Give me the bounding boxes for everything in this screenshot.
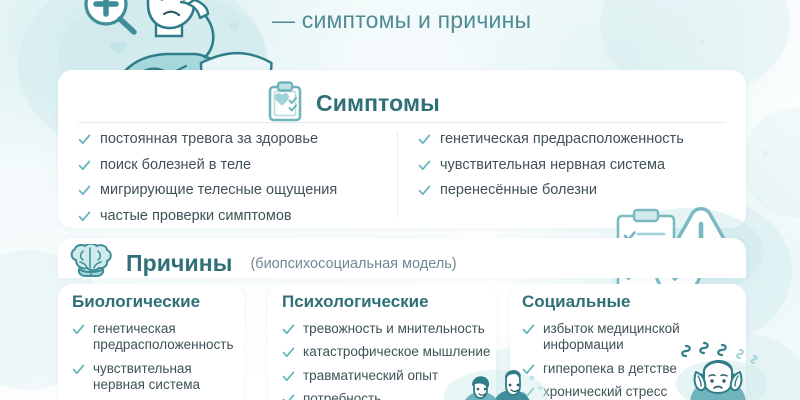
column-title: Социальные: [522, 292, 746, 312]
list-item: избыток медицинской информации: [522, 321, 746, 354]
causes-column-psychological: Психологические тревожность и мнительнос…: [282, 292, 500, 400]
list-item-label: тревожность и мнительность: [303, 321, 485, 337]
check-icon: [522, 363, 535, 376]
list-item-label: частые проверки симптомов: [100, 208, 292, 225]
check-icon: [78, 133, 91, 146]
infographic-canvas: — симптомы и причины: [0, 0, 800, 400]
check-icon: [78, 184, 91, 197]
check-icon: [282, 393, 295, 400]
list-item: постоянная тревога за здоровье: [78, 131, 388, 148]
list-item: перенесённые болезни: [418, 182, 728, 199]
decorative-dot: [700, 40, 705, 45]
causes-subtitle: (биопсихосоциальная модель): [250, 256, 456, 272]
list-item: травматический опыт: [282, 368, 500, 384]
causes-column-social: Социальные избыток медицинской информаци…: [522, 292, 746, 400]
causes-section-header: Причины (биопсихосоциальная модель): [68, 244, 457, 283]
page-title: — симптомы и причины: [272, 7, 531, 34]
causes-heading: Причины: [126, 250, 232, 277]
list-item-label: генетическая предрасположенность: [440, 131, 684, 148]
list-item-label: чувствительная нервная система: [440, 157, 665, 174]
list-item: гиперопека в детстве: [522, 361, 746, 377]
check-icon: [282, 370, 295, 383]
symptoms-divider-vertical: [397, 131, 398, 217]
symptoms-heading: Симптомы: [316, 90, 440, 117]
list-item: чувствительная нервная система: [72, 361, 244, 394]
causes-column-biological: Биологические генетическая предрасположе…: [72, 292, 244, 400]
list-item: генетическая предрасположенность: [72, 321, 244, 354]
list-item-label: катастрофическое мышление: [303, 344, 490, 360]
check-icon: [418, 184, 431, 197]
check-icon: [282, 323, 295, 336]
list-item-label: избыток медицинской информации: [543, 321, 703, 354]
column-title: Биологические: [72, 292, 244, 312]
symptoms-right-column: генетическая предрасположенность чувстви…: [418, 131, 728, 208]
check-icon: [78, 159, 91, 172]
list-item-label: хронический стресс: [543, 384, 667, 400]
list-item: катастрофическое мышление: [282, 344, 500, 360]
list-item-label: чувствительная нервная система: [93, 361, 244, 394]
list-item: мигрирующие телесные ощущения: [78, 182, 388, 199]
clipboard-heart-icon: [266, 80, 304, 127]
symptoms-left-column: постоянная тревога за здоровье поиск бол…: [78, 131, 388, 234]
list-item-label: потребность: [303, 391, 381, 400]
list-item-label: травматический опыт: [303, 368, 438, 384]
list-item: хронический стресс: [522, 384, 746, 400]
list-item: генетическая предрасположенность: [418, 131, 728, 148]
list-item-label: гиперопека в детстве: [543, 361, 677, 377]
check-icon: [418, 159, 431, 172]
check-icon: [522, 386, 535, 399]
check-icon: [78, 210, 91, 223]
list-item: тревожность и мнительность: [282, 321, 500, 337]
list-item: потребность: [282, 391, 500, 400]
decorative-dot: [196, 30, 200, 34]
check-icon: [72, 363, 85, 376]
list-item: поиск болезней в теле: [78, 157, 388, 174]
list-item: частые проверки симптомов: [78, 208, 388, 225]
background-blob: [742, 108, 800, 218]
list-item-label: мигрирующие телесные ощущения: [100, 182, 337, 199]
check-icon: [522, 323, 535, 336]
list-item-label: перенесённые болезни: [440, 182, 597, 199]
list-item-label: постоянная тревога за здоровье: [100, 131, 318, 148]
list-item-label: генетическая предрасположенность: [93, 321, 244, 354]
decorative-dot: [150, 60, 155, 65]
symptoms-divider-horizontal: [78, 122, 726, 123]
decorative-dot: [762, 150, 768, 156]
symptoms-section-header: Симптомы: [266, 80, 440, 127]
column-title: Психологические: [282, 292, 500, 312]
brain-icon: [68, 244, 114, 283]
list-item-label: поиск болезней в теле: [100, 157, 251, 174]
check-icon: [282, 346, 295, 359]
list-item: чувствительная нервная система: [418, 157, 728, 174]
check-icon: [72, 323, 85, 336]
check-icon: [418, 133, 431, 146]
